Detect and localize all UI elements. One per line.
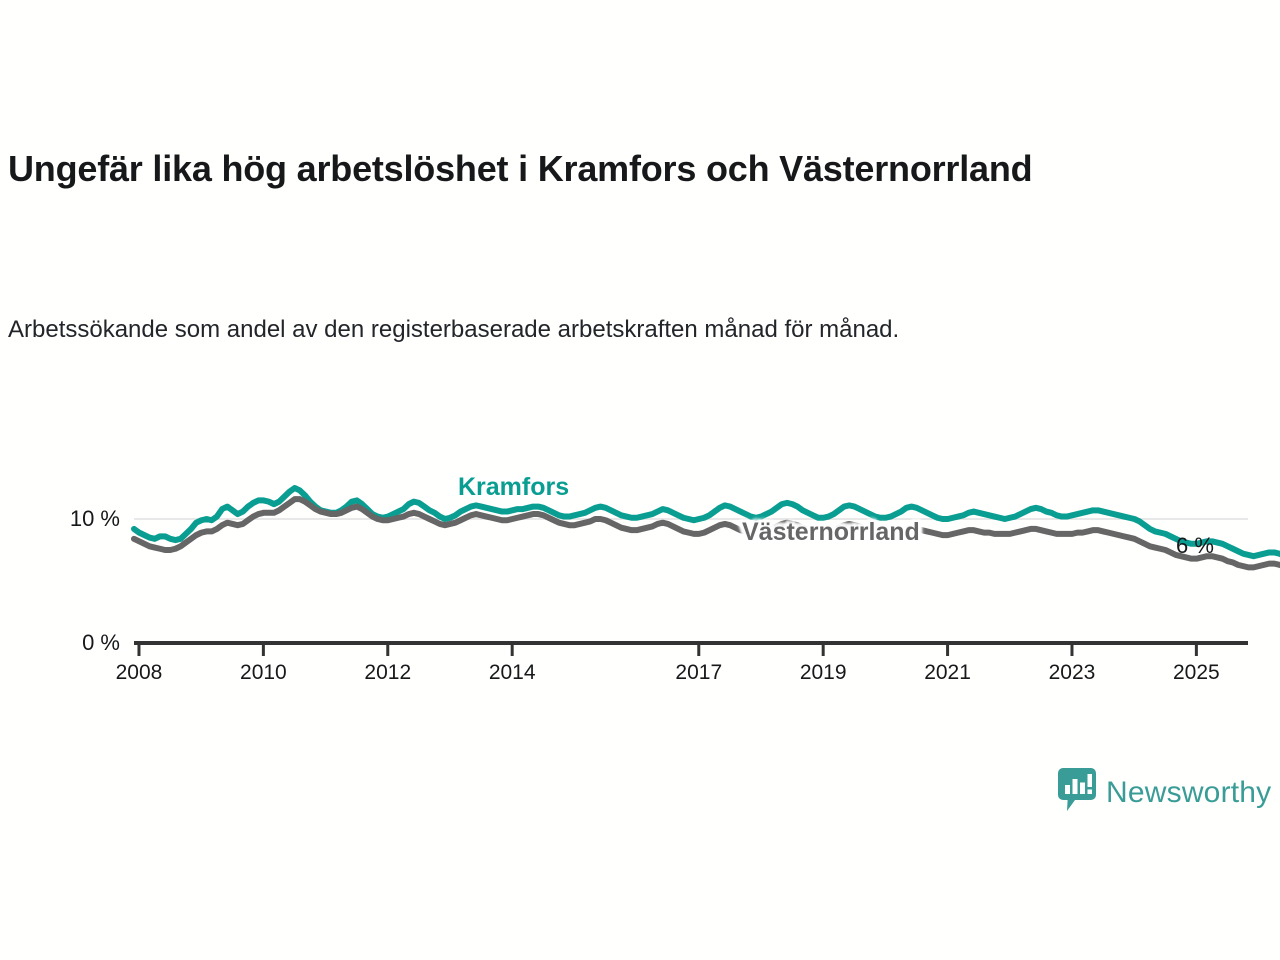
chart-subtitle: Arbetssökande som andel av den registerb… — [8, 313, 1208, 347]
line-chart-plot — [0, 430, 1280, 700]
x-axis-tick-label: 2010 — [218, 661, 308, 685]
x-axis-tick-label: 2025 — [1151, 661, 1241, 685]
x-axis-tick-label: 2017 — [654, 661, 744, 685]
series-label-kramfors: Kramfors — [458, 473, 569, 502]
page-title: Ungefär lika hög arbetslöshet i Kramfors… — [8, 146, 1108, 192]
series-label-vasternorrland: Västernorrland — [742, 518, 920, 547]
x-axis-tick-label: 2014 — [467, 661, 557, 685]
bar-chart-speech-bubble-icon — [1058, 768, 1096, 817]
x-axis-tick-label: 2019 — [778, 661, 868, 685]
x-axis-tick-label: 2023 — [1027, 661, 1117, 685]
x-axis-tick-label: 2021 — [903, 661, 993, 685]
chart-svg — [0, 430, 1280, 700]
newsworthy-logo: Newsworthy — [1058, 768, 1271, 817]
x-axis-tick-label: 2012 — [343, 661, 433, 685]
chart-page: Ungefär lika hög arbetslöshet i Kramfors… — [0, 0, 1280, 960]
x-axis-tick-label: 2008 — [94, 661, 184, 685]
end-value-label: 6 % — [1176, 533, 1214, 559]
logo-text: Newsworthy — [1106, 776, 1271, 810]
